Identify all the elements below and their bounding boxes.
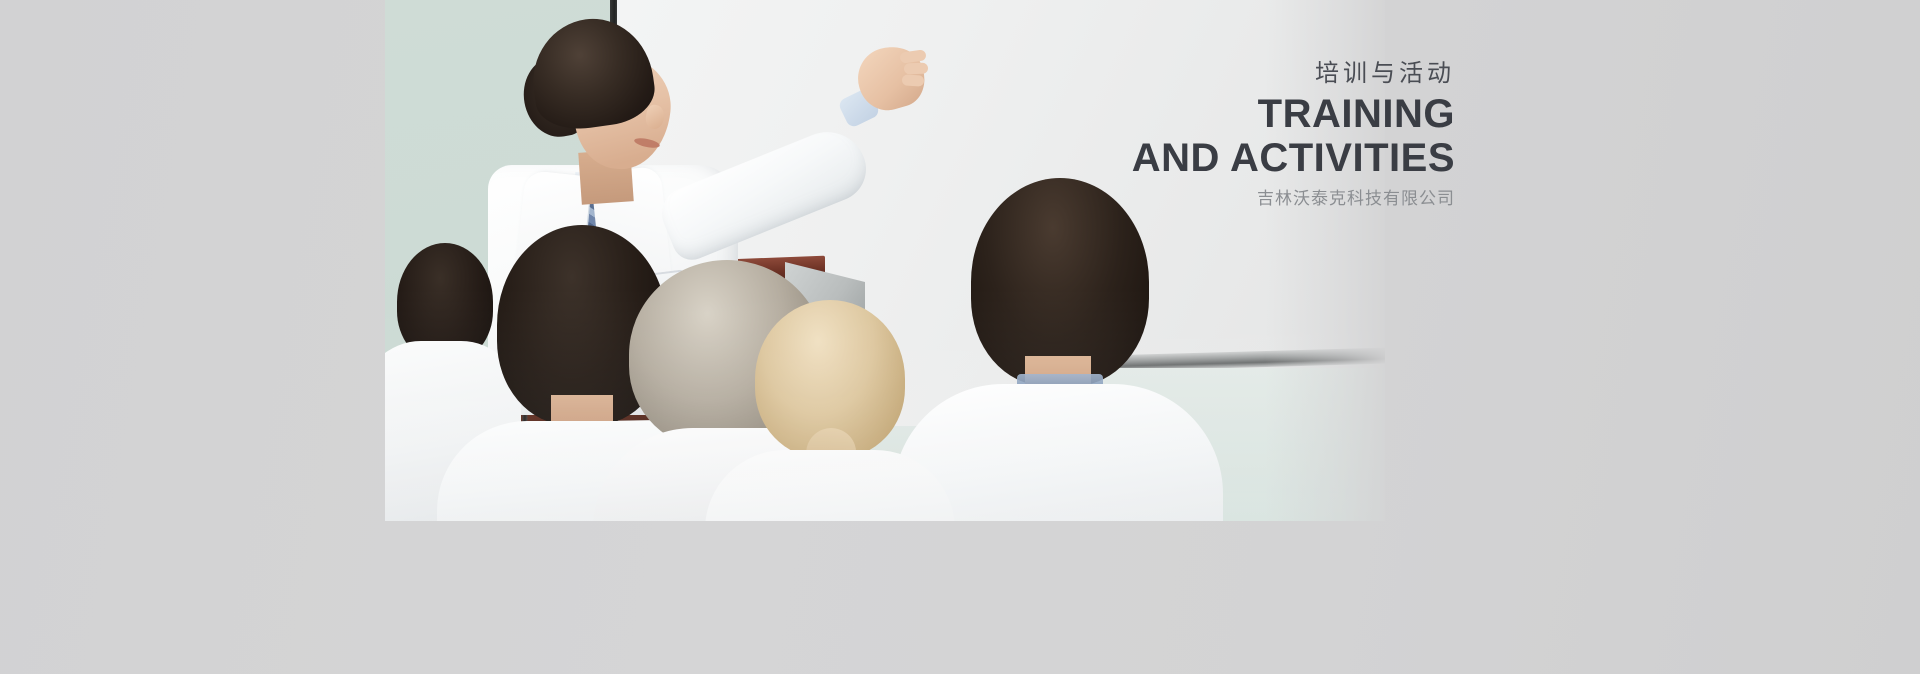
presenter-finger	[899, 49, 926, 64]
presenter-finger	[904, 63, 928, 75]
banner-heading-block: 培训与活动 TRAINING AND ACTIVITIES 吉林沃泰克科技有限公…	[1132, 62, 1455, 207]
training-activities-banner: 培训与活动 TRAINING AND ACTIVITIES 吉林沃泰克科技有限公…	[0, 0, 1920, 674]
company-name-cn: 吉林沃泰克科技有限公司	[1132, 190, 1455, 207]
banner-title-line1: TRAINING	[1132, 94, 1455, 134]
banner-title-line2: AND ACTIVITIES	[1132, 138, 1455, 178]
audience-member-blonde	[715, 300, 945, 521]
banner-subtitle-cn: 培训与活动	[1132, 62, 1455, 86]
audience-head	[971, 178, 1149, 386]
audience-shoulders	[705, 450, 955, 521]
presenter-finger	[902, 74, 925, 87]
audience-member-right	[915, 178, 1205, 521]
